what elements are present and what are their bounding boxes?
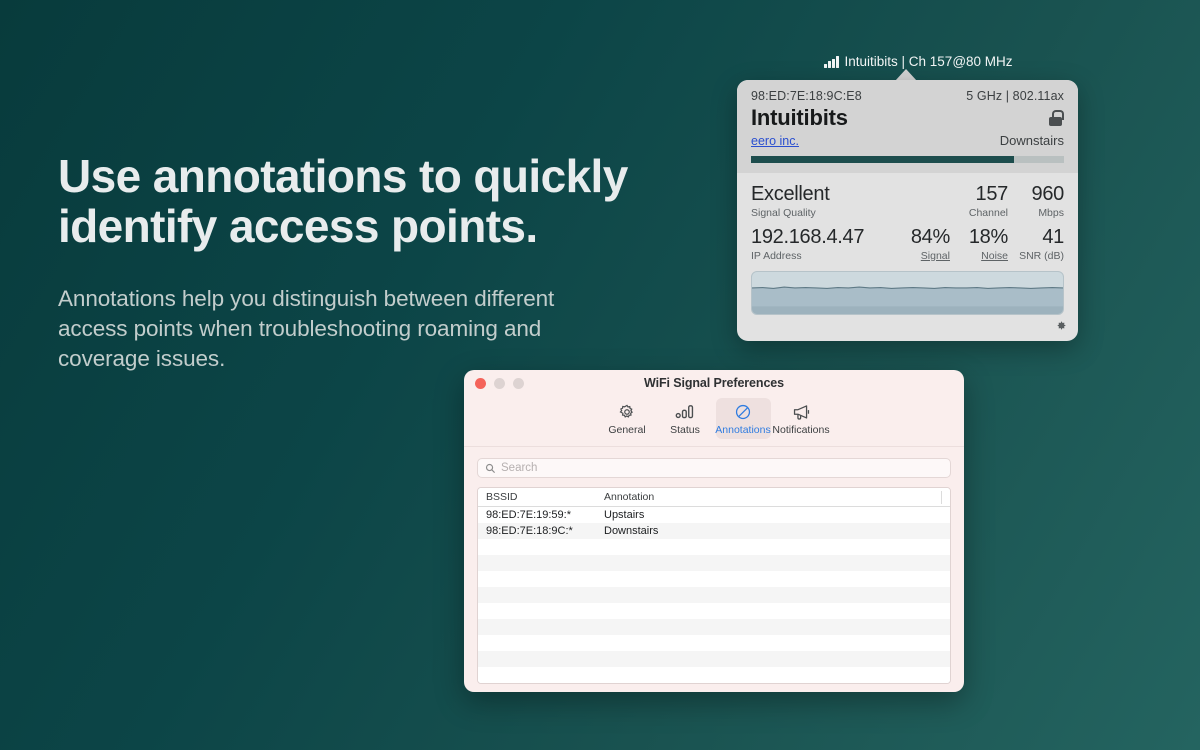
table-row-empty[interactable] bbox=[478, 667, 950, 683]
stat-channel: 157 Channel bbox=[950, 183, 1008, 219]
signal-strength-bar bbox=[751, 156, 1064, 163]
minimize-button[interactable] bbox=[494, 378, 505, 389]
table-row[interactable]: 98:ED:7E:19:59:*Upstairs bbox=[478, 507, 950, 523]
table-row[interactable]: 98:ED:7E:18:9C:*Downstairs bbox=[478, 523, 950, 539]
stat-label: Signal bbox=[921, 250, 950, 262]
search-placeholder: Search bbox=[501, 462, 537, 474]
preferences-toolbar: General Status Annotations bbox=[464, 397, 964, 446]
stat-signal: 84% Signal bbox=[888, 226, 950, 262]
popover-band: 5 GHz | 802.11ax bbox=[966, 89, 1064, 103]
annotations-table: BSSID Annotation 98:ED:7E:19:59:*Upstair… bbox=[477, 487, 951, 684]
table-row-empty[interactable] bbox=[478, 635, 950, 651]
popover-annotation: Downstairs bbox=[1000, 133, 1064, 148]
cell-bssid: 98:ED:7E:18:9C:* bbox=[478, 525, 596, 537]
table-row-empty[interactable] bbox=[478, 603, 950, 619]
column-header-bssid[interactable]: BSSID bbox=[478, 491, 596, 503]
menubar-status-text: Intuitibits | Ch 157@80 MHz bbox=[845, 54, 1013, 69]
column-header-annotation[interactable]: Annotation bbox=[596, 491, 950, 503]
stat-value: Excellent bbox=[751, 183, 888, 206]
stat-value: 41 bbox=[1042, 226, 1064, 249]
megaphone-icon bbox=[792, 402, 811, 421]
tab-label: Notifications bbox=[772, 424, 829, 436]
popover-footer bbox=[737, 315, 1078, 341]
tab-notifications[interactable]: Notifications bbox=[774, 398, 829, 439]
popover-stats-row-1: Excellent Signal Quality 157 Channel 960… bbox=[751, 183, 1064, 219]
gear-icon bbox=[618, 402, 636, 421]
stat-spacer bbox=[888, 218, 950, 219]
popover-bssid: 98:ED:7E:18:9C:E8 bbox=[751, 89, 862, 103]
stat-label: IP Address bbox=[751, 250, 888, 262]
window-bottom-bar: + − ▾ Annotate Current Network bbox=[464, 684, 964, 692]
zoom-button[interactable] bbox=[513, 378, 524, 389]
tab-label: General bbox=[608, 424, 645, 436]
marketing-copy: Use annotations to quickly identify acce… bbox=[58, 152, 658, 374]
stat-value: 960 bbox=[1032, 183, 1064, 206]
stat-value: 18% bbox=[969, 226, 1008, 249]
stat-mbps: 960 Mbps bbox=[1008, 183, 1064, 219]
traffic-lights bbox=[475, 378, 524, 389]
preferences-window: WiFi Signal Preferences General Status bbox=[464, 370, 964, 692]
table-body: 98:ED:7E:19:59:*Upstairs98:ED:7E:18:9C:*… bbox=[478, 507, 950, 683]
wifi-signal-bars-icon bbox=[824, 56, 839, 68]
stat-value: 84% bbox=[911, 226, 950, 249]
stat-signal-quality: Excellent Signal Quality bbox=[751, 183, 888, 219]
page-title: Use annotations to quickly identify acce… bbox=[58, 152, 658, 251]
signal-history-area bbox=[752, 272, 1063, 314]
table-row-empty[interactable] bbox=[478, 587, 950, 603]
stat-label: Signal Quality bbox=[751, 207, 888, 219]
bar-chart-icon bbox=[675, 402, 696, 421]
table-row-empty[interactable] bbox=[478, 555, 950, 571]
tab-annotations[interactable]: Annotations bbox=[716, 398, 771, 439]
window-titlebar: WiFi Signal Preferences bbox=[464, 370, 964, 397]
search-input[interactable]: Search bbox=[477, 458, 951, 478]
gear-icon[interactable] bbox=[1054, 319, 1067, 332]
stat-snr: 41 SNR (dB) bbox=[1008, 226, 1064, 262]
stat-label: SNR (dB) bbox=[1019, 250, 1064, 262]
stat-label: Mbps bbox=[1038, 207, 1064, 219]
wifi-popover-panel: 98:ED:7E:18:9C:E8 5 GHz | 802.11ax Intui… bbox=[737, 80, 1078, 341]
tab-label: Annotations bbox=[715, 424, 770, 436]
stat-label: Noise bbox=[981, 250, 1008, 262]
popover-header: 98:ED:7E:18:9C:E8 5 GHz | 802.11ax Intui… bbox=[737, 80, 1078, 173]
popover-body: Excellent Signal Quality 157 Channel 960… bbox=[737, 173, 1078, 315]
menubar-status-item[interactable]: Intuitibits | Ch 157@80 MHz bbox=[824, 54, 1013, 69]
close-button[interactable] bbox=[475, 378, 486, 389]
tab-status[interactable]: Status bbox=[658, 398, 713, 439]
stat-value: 157 bbox=[976, 183, 1008, 206]
table-row-empty[interactable] bbox=[478, 651, 950, 667]
table-row-empty[interactable] bbox=[478, 571, 950, 587]
table-row-empty[interactable] bbox=[478, 619, 950, 635]
cell-bssid: 98:ED:7E:19:59:* bbox=[478, 509, 596, 521]
window-title: WiFi Signal Preferences bbox=[464, 370, 964, 397]
cell-annotation: Downstairs bbox=[596, 525, 950, 537]
vendor-link[interactable]: eero inc. bbox=[751, 134, 799, 148]
popover-ssid: Intuitibits bbox=[751, 105, 848, 131]
signal-strength-fill bbox=[751, 156, 1014, 163]
stat-value: 192.168.4.47 bbox=[751, 226, 888, 249]
popover-stats-row-2: 192.168.4.47 IP Address 84% Signal 18% N… bbox=[751, 226, 1064, 262]
stat-ip-address: 192.168.4.47 IP Address bbox=[751, 226, 888, 262]
annotation-icon bbox=[734, 402, 752, 421]
annotations-pane: Search BSSID Annotation 98:ED:7E:19:59:*… bbox=[464, 447, 964, 684]
cell-annotation: Upstairs bbox=[596, 509, 950, 521]
tab-general[interactable]: General bbox=[600, 398, 655, 439]
page-subtitle: Annotations help you distinguish between… bbox=[58, 284, 603, 374]
stat-label: Channel bbox=[969, 207, 1008, 219]
stat-noise: 18% Noise bbox=[950, 226, 1008, 262]
signal-history-chart bbox=[751, 271, 1064, 315]
tab-label: Status bbox=[670, 424, 700, 436]
search-icon bbox=[485, 463, 496, 474]
lock-icon bbox=[1049, 110, 1062, 126]
table-row-empty[interactable] bbox=[478, 539, 950, 555]
table-header: BSSID Annotation bbox=[478, 488, 950, 507]
column-resize-handle[interactable] bbox=[941, 491, 942, 504]
